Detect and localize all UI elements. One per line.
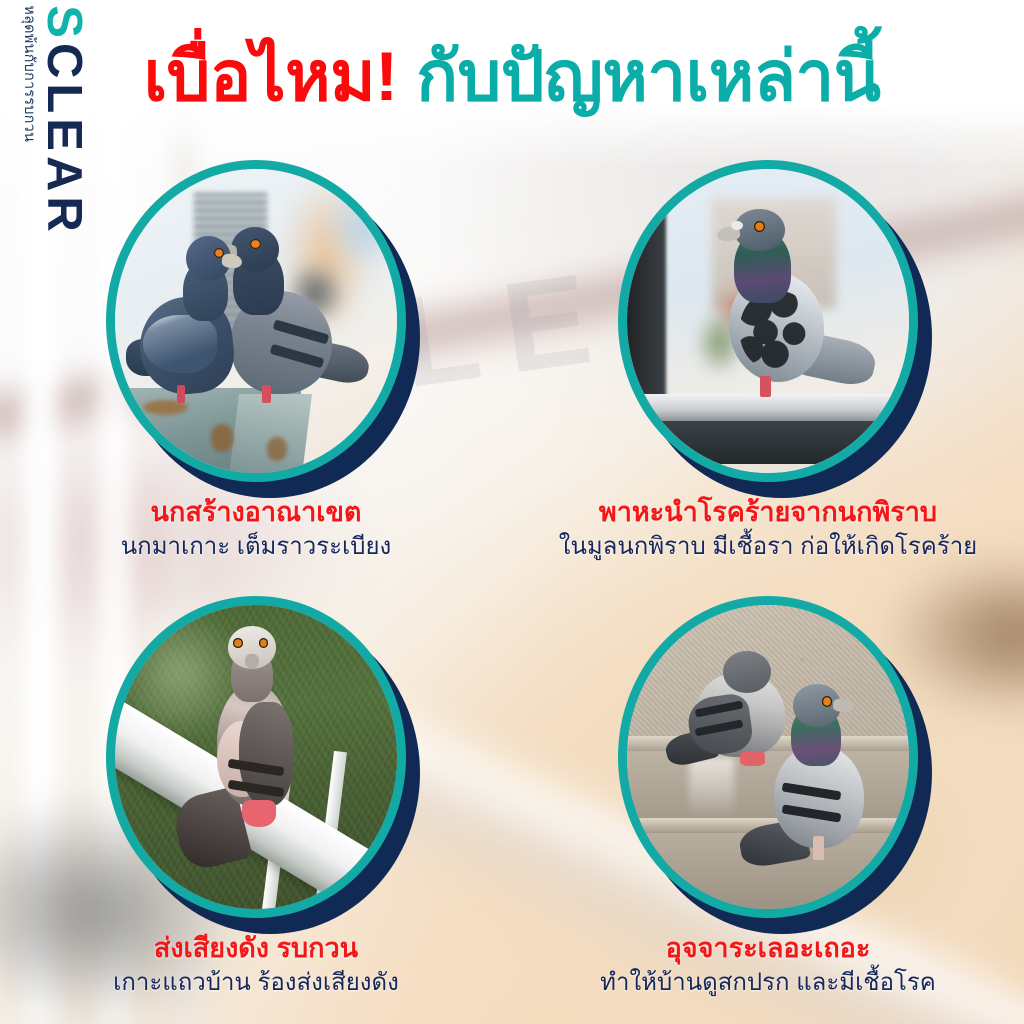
page-title: เบื่อไหม! กับปัญหาเหล่านี้ (0, 40, 1024, 115)
problem-card-droppings[interactable]: อุจจาระเลอะเถอะ ทำให้บ้านดูสกปรก และมีเช… (512, 588, 1024, 1024)
headline-part-teal: กับปัญหาเหล่านี้ (416, 38, 880, 115)
brand-logo: SCLEAR หลุดพ้นกับการรบกวน (0, 0, 114, 246)
logo-letters-clear: CLEAR (37, 43, 91, 237)
card-subtitle: นกมาเกาะ เต็มราวระเบียง (121, 531, 391, 562)
card-subtitle: ทำให้บ้านดูสกปรก และมีเชื้อโรค (600, 967, 936, 998)
card-title: นกสร้างอาณาเขต (121, 496, 391, 529)
problem-card-grid: นกสร้างอาณาเขต นกมาเกาะ เต็มราวระเบียง (0, 152, 1024, 1024)
logo-tagline: หลุดพ้นกับการรบกวน (20, 5, 36, 142)
photo-circle-droppings (618, 596, 918, 918)
photo-circle-noise (106, 596, 406, 918)
circle-photo-frame (618, 596, 918, 918)
problem-card-noise[interactable]: ส่งเสียงดัง รบกวน เกาะแถวบ้าน ร้องส่งเสี… (0, 588, 512, 1024)
card-subtitle: เกาะแถวบ้าน ร้องส่งเสียงดัง (113, 967, 399, 998)
card-title: อุจจาระเลอะเถอะ (600, 932, 936, 965)
card-title: ส่งเสียงดัง รบกวน (113, 932, 399, 965)
card-title: พาหะนำโรคร้ายจากนกพิราบ (559, 496, 978, 529)
photo-pigeon-on-white-railing (115, 605, 397, 909)
card-caption: ส่งเสียงดัง รบกวน เกาะแถวบ้าน ร้องส่งเสี… (113, 932, 399, 998)
headline-part-red: เบื่อไหม! (144, 38, 398, 115)
logo-wordmark: SCLEAR (39, 5, 88, 236)
circle-photo-frame (618, 160, 918, 482)
circle-photo-frame (106, 596, 406, 918)
photo-circle-territory (106, 160, 406, 482)
problem-card-disease[interactable]: พาหะนำโรคร้ายจากนกพิราบ ในมูลนกพิราบ มีเ… (512, 152, 1024, 588)
photo-pigeon-on-window-ledge (627, 169, 909, 473)
photo-circle-disease (618, 160, 918, 482)
card-caption: อุจจาระเลอะเถอะ ทำให้บ้านดูสกปรก และมีเช… (600, 932, 936, 998)
circle-photo-frame (106, 160, 406, 482)
photo-two-pigeons-on-concrete-steps (627, 605, 909, 909)
logo-letter-s: S (37, 5, 91, 43)
photo-two-pigeons-on-metal-post (115, 169, 397, 473)
card-caption: นกสร้างอาณาเขต นกมาเกาะ เต็มราวระเบียง (121, 496, 391, 562)
card-subtitle: ในมูลนกพิราบ มีเชื้อรา ก่อให้เกิดโรคร้าย (559, 531, 978, 562)
card-caption: พาหะนำโรคร้ายจากนกพิราบ ในมูลนกพิราบ มีเ… (559, 496, 978, 562)
